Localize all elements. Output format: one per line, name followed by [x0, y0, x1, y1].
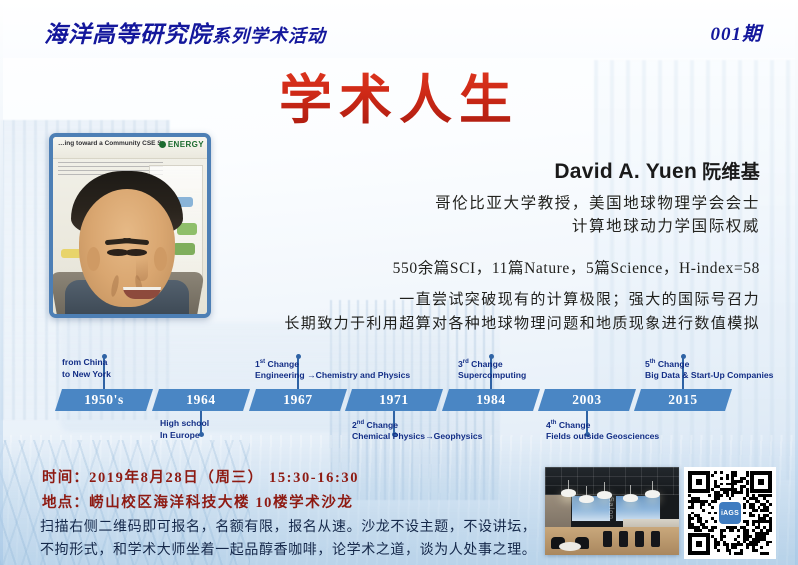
qr-module: [705, 520, 708, 523]
qr-logo: iAGS: [719, 502, 741, 524]
qr-finder-pattern: [688, 471, 710, 493]
qr-module: [729, 552, 732, 555]
eye-right: [125, 249, 147, 256]
qr-module: [766, 552, 769, 555]
qr-finder-pattern: [750, 471, 772, 493]
timeline-event-label: from Chinato New York: [62, 357, 111, 380]
qr-module: [769, 529, 772, 532]
qr-module: [714, 526, 717, 529]
poster-canvas: 海洋高等研究院系列学术活动 001期 学术人生 …ing toward a Co…: [0, 0, 798, 565]
qr-module: [769, 503, 772, 506]
timeline-year-badge: 1964: [152, 389, 250, 411]
pendant-lamp-1: [561, 489, 576, 497]
qr-module: [731, 529, 734, 532]
registration-note-line-2: 不拘形式，和学术大师坐着一起品醇香咖啡，论学术之道，谈为人处事之理。: [40, 539, 560, 562]
qr-module: [734, 483, 737, 486]
qr-module: [766, 543, 769, 546]
timeline-event-label-line-2: In Europe: [160, 430, 209, 442]
timeline-event-label-line-1: 3rd Change: [458, 357, 526, 370]
qr-module: [714, 520, 717, 523]
timeline-year-badge: 2003: [538, 389, 636, 411]
pendant-lamp-3: [597, 491, 612, 499]
timeline-event-label: 5th ChangeBig Data & Start-Up Companies: [645, 357, 773, 382]
qr-module: [720, 483, 723, 486]
series-title: 海洋高等研究院系列学术活动: [44, 15, 326, 49]
pendant-lamp-4: [623, 494, 638, 502]
timeline-event-label-line-1: from China: [62, 357, 111, 369]
timeline-event-label-line-1: High school: [160, 418, 209, 430]
timeline-event-label-line-1: 1st Change: [255, 357, 410, 370]
speaker-description-line-2: 长期致力于利用超算对各种地球物理问题和地质现象进行数值模拟: [140, 312, 760, 333]
qr-module: [723, 529, 726, 532]
timeline-event-label-line-2: Fields outside Geosciences: [546, 431, 659, 443]
qr-module: [714, 512, 717, 515]
registration-qr-code[interactable]: iAGS: [684, 467, 776, 559]
speaker-name: David A. Yuen阮维基: [554, 157, 760, 184]
series-title-sub: 系列学术活动: [212, 26, 326, 46]
qr-module: [708, 494, 711, 497]
qr-module: [711, 474, 714, 477]
timeline-event-label: 1st ChangeEngineering →Chemistry and Phy…: [255, 357, 410, 382]
page-title: 学术人生: [0, 58, 798, 134]
ear-right: [154, 247, 167, 271]
event-time-label: 时间：: [42, 470, 89, 486]
qr-module: [691, 506, 694, 509]
qr-module: [737, 535, 740, 538]
qr-finder-pattern: [688, 533, 710, 555]
qr-module: [714, 471, 717, 474]
qr-module: [700, 529, 703, 532]
venue-stool-3: [635, 531, 644, 547]
qr-module: [740, 491, 743, 494]
venue-window-right: [615, 495, 661, 522]
qr-module: [746, 523, 749, 526]
timeline-year-badge: 2015: [634, 389, 732, 411]
timeline-event-label: High schoolIn Europe: [160, 418, 209, 441]
qr-module: [746, 483, 749, 486]
qr-module: [755, 543, 758, 546]
timeline-event-label-line-2: Supercomputing: [458, 370, 526, 382]
timeline-event-label: 4th ChangeFields outside Geosciences: [546, 418, 659, 443]
speaker-credential-line-1: 哥伦比亚大学教授，美国地球物理学会会士: [240, 193, 760, 214]
timeline-event-label-line-2: Engineering →Chemistry and Physics: [255, 370, 410, 382]
timeline-event-label: 2nd ChangeChemical Physics→Geophysics: [352, 418, 482, 443]
timeline-event-label: 3rd ChangeSupercomputing: [458, 357, 526, 382]
speaker-publication-stats: 550余篇SCI，11篇Nature，5篇Science，H-index=58: [200, 256, 760, 278]
timeline-event-label-line-1: 5th Change: [645, 357, 773, 370]
poster-header: 海洋高等研究院系列学术活动 001期: [0, 0, 798, 56]
qr-module: [717, 549, 720, 552]
event-place-row: 地点：崂山校区海洋科技大楼 10楼学术沙龙: [42, 491, 359, 516]
qr-module: [766, 532, 769, 535]
qr-module: [720, 471, 723, 474]
qr-module: [740, 480, 743, 483]
qr-module: [752, 514, 755, 517]
timeline-year-badge: 1950's: [55, 389, 153, 411]
qr-module: [711, 529, 714, 532]
qr-module: [720, 494, 723, 497]
timeline-event-label-line-2: to New York: [62, 369, 111, 381]
qr-module: [755, 509, 758, 512]
qr-module: [717, 543, 720, 546]
qr-module: [717, 497, 720, 500]
qr-module: [743, 506, 746, 509]
qr-module: [691, 517, 694, 520]
venue-caption: Salon: [607, 497, 614, 520]
qr-module: [711, 506, 714, 509]
venue-wall: [545, 495, 571, 529]
qr-module: [729, 497, 732, 500]
venue-stool-1: [603, 531, 612, 547]
qr-module: [737, 529, 740, 532]
venue-stool-2: [619, 531, 628, 547]
qr-module: [740, 552, 743, 555]
smile-line-left: [110, 275, 120, 298]
qr-module: [746, 546, 749, 549]
qr-module: [769, 512, 772, 515]
energy-logo: ENERGY: [159, 140, 204, 149]
career-timeline: 1950'sfrom Chinato New York1964High scho…: [0, 340, 798, 455]
qr-module: [769, 541, 772, 544]
registration-note-line-1: 扫描右侧二维码即可报名，名额有限，报名从速。沙龙不设主题，不设讲坛，: [40, 516, 560, 539]
qr-module: [714, 500, 717, 503]
ear-left: [87, 247, 100, 271]
venue-stool-4: [651, 531, 660, 547]
qr-module: [726, 477, 729, 480]
qr-module: [740, 543, 743, 546]
pendant-lamp-2: [579, 495, 594, 503]
event-time-value: 2019年8月28日（周三） 15:30-16:30: [89, 470, 359, 486]
qr-module: [731, 494, 734, 497]
event-time-row: 时间：2019年8月28日（周三） 15:30-16:30: [42, 466, 359, 491]
speaker-name-cn: 阮维基: [702, 162, 760, 183]
speaker-description-line-1: 一直尝试突破现有的计算极限；强大的国际号召力: [140, 288, 760, 309]
series-title-main: 海洋高等研究院: [44, 22, 212, 47]
backdrop-poster-title: …ing toward a Community CSE Software Eco…: [58, 140, 165, 147]
qr-module: [743, 512, 746, 515]
qr-module: [702, 503, 705, 506]
timeline-event-label-line-1: 2nd Change: [352, 418, 482, 431]
qr-module: [723, 535, 726, 538]
qr-canvas: iAGS: [688, 471, 772, 555]
qr-module: [746, 474, 749, 477]
pendant-lamp-5: [645, 490, 660, 498]
qr-module: [702, 509, 705, 512]
qr-module: [758, 541, 761, 544]
qr-module: [734, 474, 737, 477]
timeline-event-label-line-2: Chemical Physics→Geophysics: [352, 431, 482, 443]
qr-module: [734, 546, 737, 549]
speaker-name-en: David A. Yuen: [554, 160, 697, 183]
venue-table: [559, 542, 581, 551]
event-info: 时间：2019年8月28日（周三） 15:30-16:30 地点：崂山校区海洋科…: [42, 466, 359, 516]
qr-module: [720, 477, 723, 480]
qr-module: [769, 494, 772, 497]
issue-number: 001期: [710, 19, 762, 46]
qr-module: [760, 546, 763, 549]
event-place-value: 崂山校区海洋科技大楼 10楼学术沙龙: [89, 495, 353, 511]
qr-module: [755, 549, 758, 552]
timeline-year-badge: 1971: [345, 389, 443, 411]
qr-module: [708, 512, 711, 515]
registration-note: 扫描右侧二维码即可报名，名额有限，报名从速。沙龙不设主题，不设讲坛， 不拘形式，…: [40, 516, 560, 562]
venue-photo: Salon: [545, 467, 679, 555]
timeline-year-badge: 1967: [249, 389, 347, 411]
timeline-event-label-line-2: Big Data & Start-Up Companies: [645, 370, 773, 382]
timeline-year-badge: 1984: [442, 389, 540, 411]
timeline-event-label-line-1: 4th Change: [546, 418, 659, 431]
event-place-label: 地点：: [42, 495, 89, 511]
eyebrow-right: [122, 238, 149, 245]
speaker-credential-line-2: 计算地球动力学国际权威: [240, 216, 760, 237]
